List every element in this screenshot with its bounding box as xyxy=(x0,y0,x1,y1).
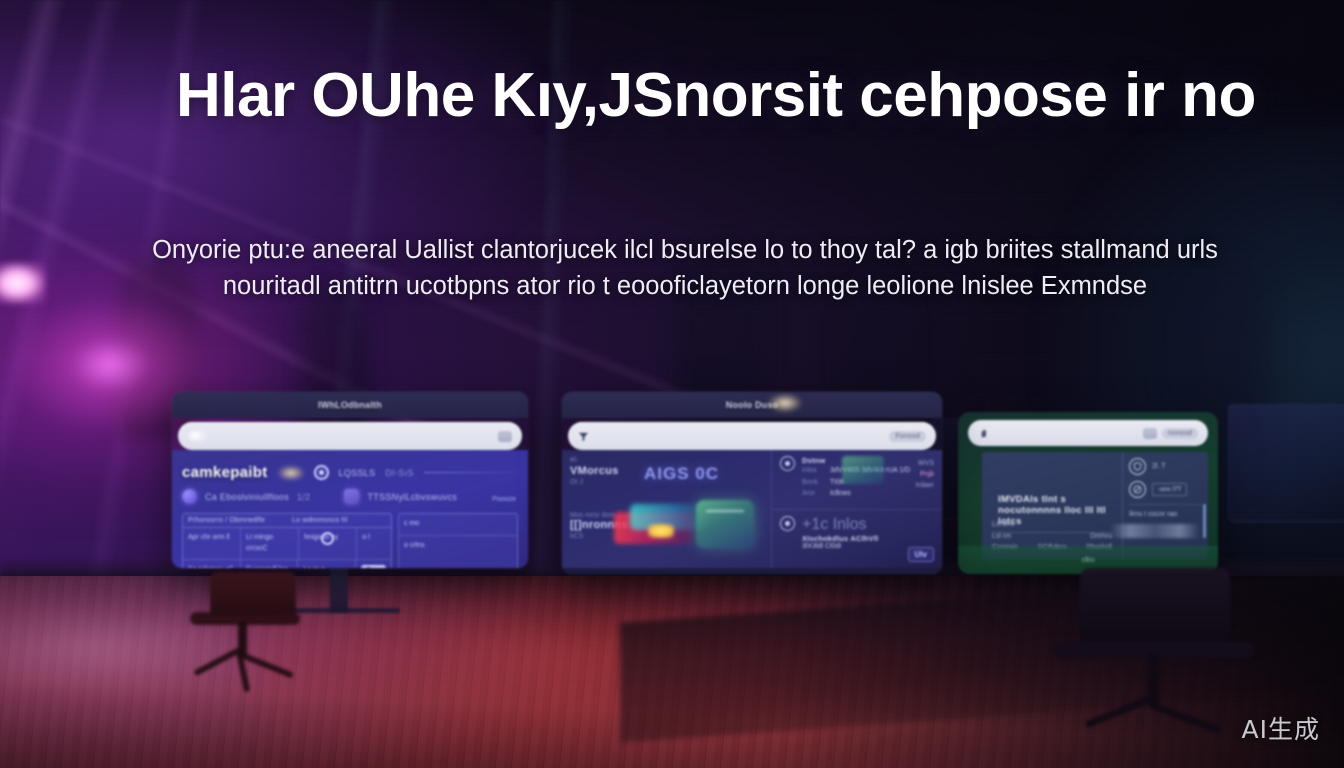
info-value-1: 1/2 xyxy=(297,492,310,502)
render-yellow-core xyxy=(648,524,674,538)
table-cell: o l xyxy=(357,528,391,559)
data-table-side[interactable]: c mo o crlns xyxy=(398,513,518,568)
panel-titlebar: Noolo Duso xyxy=(562,392,942,418)
panel-heading: camkepaibt xyxy=(182,464,268,481)
panel-side-rail: 2l. T -ons l7T Ilrns I cocnr rao xyxy=(1122,452,1208,560)
content-metric: AIGS 0C xyxy=(644,464,719,484)
shield-icon[interactable] xyxy=(1129,458,1146,475)
green-footer-text: cllro xyxy=(1082,557,1095,564)
table-cell: o crlns xyxy=(399,536,517,557)
stat-card-bottom[interactable]: +1c Inlos XIschokdlus AClhVll 3lX3ldl Cl… xyxy=(772,510,942,569)
filter-icon[interactable] xyxy=(578,431,589,442)
side-rail-row: Ilrns I cocnr rao xyxy=(1129,504,1202,518)
search-bar-left[interactable] xyxy=(578,431,589,442)
signature-graphic xyxy=(1110,524,1200,538)
product-3d-render xyxy=(614,498,762,554)
table-row: o crlns xyxy=(399,536,517,557)
no-entry-icon[interactable] xyxy=(1129,481,1146,498)
info-label-2: TTSSNylLcbvswuvcs xyxy=(367,492,457,502)
table-cell: LI mingo crcscC xyxy=(241,528,299,559)
panel-body: #l- VMorcus Ot J AIGS 0C Mos rorsr dom [… xyxy=(562,450,942,568)
panel-heading-row: camkepaibt LQSSLS DI-SıS xyxy=(182,464,518,481)
apps-icon[interactable] xyxy=(1143,428,1157,439)
search-bar[interactable] xyxy=(178,422,522,450)
info-circle-icon xyxy=(780,516,795,531)
stat-card-top[interactable]: Dstnw Inlos 3dVV40S 3dV4I3 rUA 1/D Bonk … xyxy=(772,450,942,510)
stat-card-tag: +1c Inlos xyxy=(802,516,878,534)
table-cell: Lc re n xyxy=(298,560,356,568)
stat-key: Aror xyxy=(802,488,824,500)
panel-title: IWhLOdbnalth xyxy=(318,400,382,410)
render-highlight-line xyxy=(706,510,744,512)
panel-main-content: IMVDAls tlnt s nocutonnnns lloc lll ltl … xyxy=(982,452,1122,560)
panel-titlebar: IWhLOdbnalth xyxy=(172,392,528,418)
stat-row: Aror Icllcws xyxy=(802,488,910,500)
data-table[interactable]: Prhorosrro / Obmrwdlfe Lo wdmmsnco hl Ap… xyxy=(182,513,392,568)
side-rail-row[interactable]: 2l. T xyxy=(1129,458,1202,475)
stat-card-body: +1c Inlos XIschokdlus AClhVll 3lX3ldl Cl… xyxy=(802,516,878,563)
screen-panel-right[interactable]: nonosd IMVDAls tlnt s nocutonnnns lloc l… xyxy=(958,412,1218,574)
divider-line xyxy=(424,472,518,473)
stat-far-column: WVS Pnjb Irdaer xyxy=(916,456,934,489)
menu-icon[interactable] xyxy=(498,431,512,442)
stat-value: Icllcws xyxy=(830,488,851,500)
subtitle-line-1: Onyorie ptu:e aneeral Uallist clantorjuc… xyxy=(152,236,1218,264)
ai-generated-watermark: AI生成 xyxy=(1242,710,1320,746)
light-flare-icon xyxy=(768,394,802,412)
page-subtitle: Onyorie ptu:e aneeral Uallist clantorjuc… xyxy=(56,232,1314,304)
hero-text-block: Hlar OUhe Kıy,JSnorsit cehpose ir no Ony… xyxy=(0,0,1344,330)
panel-info-row: Ca Eboslviniullfloos 1/2 TTSSNylLcbvswuv… xyxy=(182,489,518,504)
stat-card-sub: 3lX3ldl Cl0dI xyxy=(802,543,878,550)
highlight-glow-icon xyxy=(278,466,304,480)
panel-side-stats: Dstnw Inlos 3dVV40S 3dV4I3 rUA 1/D Bonk … xyxy=(772,450,942,568)
info-circle-icon xyxy=(780,456,795,471)
render-green-block xyxy=(696,500,754,548)
table-action-chip[interactable]: Rmo 1 xyxy=(361,565,386,568)
search-bar-left xyxy=(188,430,208,443)
table-header-cell: Lo wdmmsnco hl xyxy=(292,517,386,524)
table-row[interactable]: Ss rulemoc oS Rusnsmdl loa Lc re n Rmo 1 xyxy=(183,560,391,568)
content-tag: #l- xyxy=(570,457,763,464)
side-rail-text: Ilrns I cocnr rao xyxy=(1129,511,1177,518)
footer-item: Drtrhru xyxy=(1086,531,1112,543)
mini-3d-thumbnail xyxy=(842,456,884,484)
stat-far-value: WVS xyxy=(916,460,934,467)
search-action-chip[interactable]: Fonosd xyxy=(889,431,926,442)
search-bar[interactable]: Fonosd xyxy=(568,422,936,450)
side-rail-text: 2l. T xyxy=(1152,463,1166,470)
search-bar-right[interactable] xyxy=(498,431,512,442)
stat-card-heading: XIschokdlus AClhVll xyxy=(802,534,878,543)
hand-icon[interactable] xyxy=(978,428,989,439)
chair-left xyxy=(178,576,338,686)
search-action-chip[interactable]: nonosd xyxy=(1162,428,1198,439)
screen-panel-middle[interactable]: Noolo Duso Fonosd #l- VMorcus Ot J AIGS … xyxy=(562,392,942,574)
stat-far-note-2: Irdaer xyxy=(916,482,934,489)
search-bar-right[interactable]: Fonosd xyxy=(889,431,926,442)
stat-key: Bonk xyxy=(802,477,824,489)
page-title: Hlar OUhe Kıy,JSnorsit cehpose ir no xyxy=(176,63,1276,130)
table-row[interactable]: Apr chr orm ll LI mingo crcscC hnigooo c… xyxy=(183,528,391,560)
table-header-row: Prhorosrro / Obmrwdlfe Lo wdmmsnco hl xyxy=(183,514,391,528)
chair-right xyxy=(1040,580,1270,740)
info-label-1: Ca Eboslviniullfloos xyxy=(205,492,289,502)
footer-item: Lcrslns xyxy=(992,519,1018,531)
table-cell: hnigooo cy xyxy=(299,528,357,559)
scrollbar-thumb[interactable] xyxy=(1203,504,1206,538)
search-icon xyxy=(188,430,208,443)
panel-main-content: #l- VMorcus Ot J AIGS 0C Mos rorsr dom [… xyxy=(562,450,772,568)
panel-body: camkepaibt LQSSLS DI-SıS Poooze Ca Ebosl… xyxy=(172,450,528,568)
screenshot-stage: Hlar OUhe Kıy,JSnorsit cehpose ir no Ony… xyxy=(0,0,1344,768)
table-cell: Ss rulemoc oS xyxy=(183,560,241,568)
screen-panel-left[interactable]: IWhLOdbnalth camkepaibt LQSSLS DI-SıS Po… xyxy=(172,392,528,568)
user-avatar-icon xyxy=(182,489,197,504)
table-cell: c mo xyxy=(399,514,517,535)
table-cell: Rusnsmdl loa xyxy=(241,560,299,568)
chat-icon xyxy=(344,489,359,504)
panel-footer: Ronrilrnosr nollc Rcor arsl Lanbrery DE … xyxy=(562,568,942,574)
table-cell: Rmo 1 xyxy=(356,560,391,568)
side-rail-text: -ons l7T xyxy=(1152,483,1187,496)
footer-item: Lsl rm xyxy=(992,531,1018,543)
stat-key: Inlos xyxy=(802,465,824,477)
search-bar-right[interactable]: nonosd xyxy=(1143,428,1198,439)
stat-card-chip[interactable]: Ulv xyxy=(908,547,934,562)
table-row: c mo xyxy=(399,514,517,536)
side-rail-row[interactable]: -ons l7T xyxy=(1129,481,1202,498)
panel-body: IMVDAls tlnt s nocutonnnns lloc lll ltl … xyxy=(982,452,1208,560)
record-icon[interactable] xyxy=(314,465,329,480)
status-value: DI-SıS xyxy=(385,468,413,478)
side-note: Poooze xyxy=(492,496,516,503)
status-label: LQSSLS xyxy=(339,468,376,478)
progress-ring-icon xyxy=(321,532,334,545)
table-cell: Apr chr orm ll xyxy=(183,528,241,559)
subtitle-line-2: nouritadl antitrn ucotbpns ator rio t eo… xyxy=(56,268,1314,304)
search-bar[interactable]: nonosd xyxy=(968,420,1208,446)
table-header-cell: Prhorosrro / Obmrwdlfe xyxy=(188,517,282,524)
stat-far-note-1: Pnjb xyxy=(916,471,934,478)
